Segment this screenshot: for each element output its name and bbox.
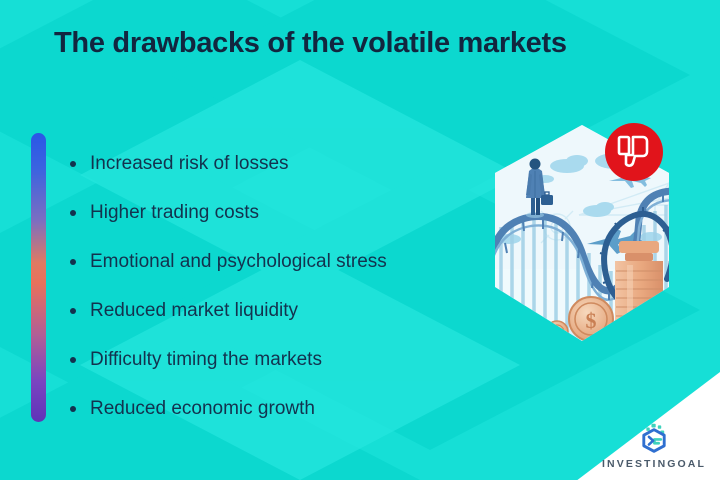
list-item-label: Reduced economic growth — [90, 398, 315, 419]
gradient-accent-bar — [31, 133, 46, 422]
logo-wordmark: INVESTINGOAL — [602, 458, 706, 470]
dollar-coin: $ — [569, 297, 613, 341]
list-item: Increased risk of losses — [68, 139, 488, 188]
bullet-dot-icon — [70, 406, 76, 412]
bullet-dot-icon — [70, 357, 76, 363]
list-item: Higher trading costs — [68, 188, 488, 237]
thumbs-down-badge — [605, 123, 663, 181]
investinggoal-logo[interactable]: INVESTINGOAL — [602, 422, 706, 470]
infographic-canvas: The drawbacks of the volatile markets In… — [0, 0, 720, 480]
list-item: Reduced economic growth — [68, 384, 488, 433]
list-item-label: Higher trading costs — [90, 202, 259, 223]
list-item: Emotional and psychological stress — [68, 237, 488, 286]
list-item: Reduced market liquidity — [68, 286, 488, 335]
bullet-dot-icon — [70, 161, 76, 167]
list-item-label: Reduced market liquidity — [90, 300, 298, 321]
list-item: Difficulty timing the markets — [68, 335, 488, 384]
list-item-label: Emotional and psychological stress — [90, 251, 387, 272]
drawbacks-list: Increased risk of losses Higher trading … — [68, 139, 488, 433]
bullet-dot-icon — [70, 210, 76, 216]
list-item-label: Difficulty timing the markets — [90, 349, 322, 370]
bullet-dot-icon — [70, 259, 76, 265]
page-title: The drawbacks of the volatile markets — [54, 27, 694, 60]
rollercoaster-market-illustration: $ — [479, 119, 686, 359]
small-coin — [546, 321, 568, 343]
svg-text:$: $ — [586, 308, 597, 333]
investinggoal-mark-icon — [637, 422, 671, 456]
bullet-dot-icon — [70, 308, 76, 314]
list-item-label: Increased risk of losses — [90, 153, 289, 174]
